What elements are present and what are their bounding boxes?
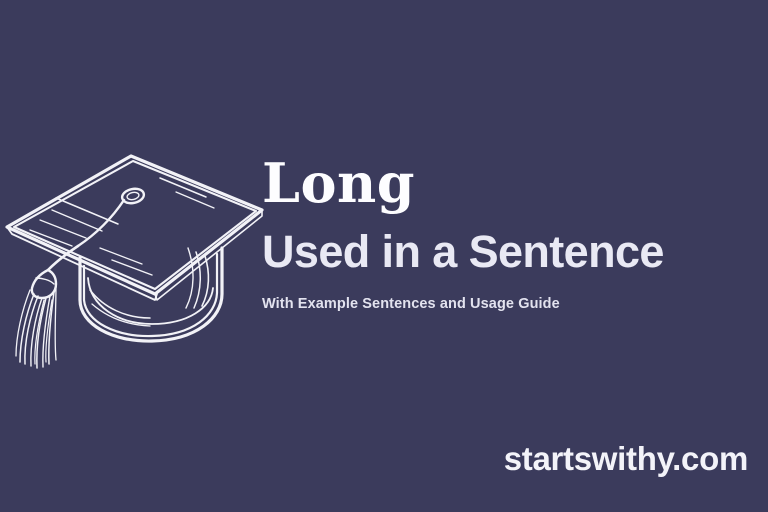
headline-block: Long Used in a Sentence With Example Sen… [262, 156, 762, 314]
page-subtitle: With Example Sentences and Usage Guide [262, 296, 762, 313]
banner-canvas: Long Used in a Sentence With Example Sen… [0, 0, 768, 512]
page-title-word: Long [262, 156, 762, 210]
page-title-phrase: Used in a Sentence [262, 228, 762, 275]
brand-domain: startswithy.com [504, 440, 748, 478]
graduation-cap-icon [0, 148, 272, 376]
